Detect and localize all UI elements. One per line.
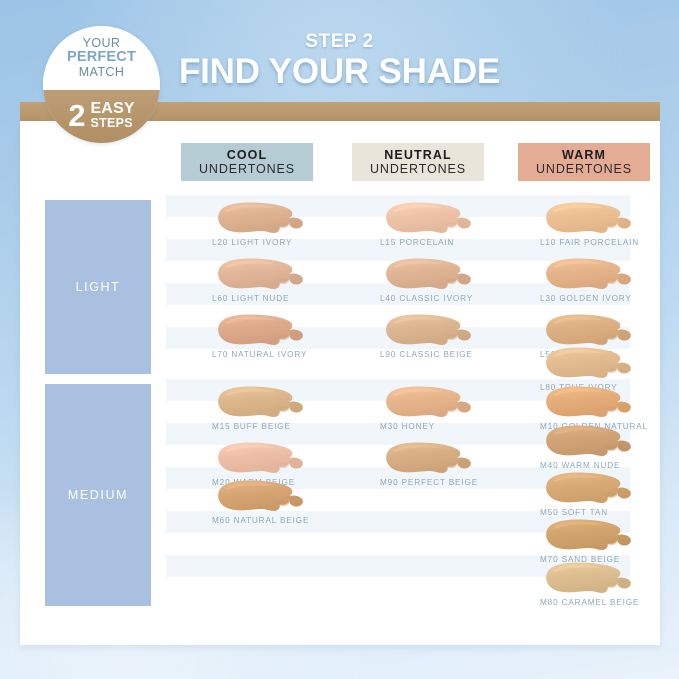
undertone-name-neutral: NEUTRAL [384,148,451,162]
shade-label: L20 LIGHT IVORY [212,238,362,247]
shade-label: L90 CLASSIC BEIGE [380,350,530,359]
undertone-header-cool[interactable]: COOL UNDERTONES [181,143,313,181]
shade-swatch-icon [214,440,310,478]
shade-label: L15 PORCELAIN [380,238,530,247]
shade-label: M40 WARM NUDE [540,461,679,470]
shade-swatch-icon [382,440,478,478]
shade-cell[interactable]: M30 HONEY [378,384,528,442]
shade-label: M90 PERFECT BEIGE [380,478,530,487]
shade-swatch-icon [542,384,638,422]
shade-swatch-icon [542,517,638,555]
shade-cell[interactable]: M80 CARAMEL BEIGE [538,560,679,618]
shade-cell[interactable]: L60 LIGHT NUDE [210,256,360,314]
category-block-medium[interactable]: MEDIUM [45,384,151,606]
shade-label: M30 HONEY [380,422,530,431]
shade-swatch-icon [382,312,478,350]
shade-cell[interactable]: M90 PERFECT BEIGE [378,440,528,498]
shade-label: M60 NATURAL BEIGE [212,516,362,525]
shade-swatch-icon [214,200,310,238]
shade-swatch-icon [542,200,638,238]
undertone-sub-cool: UNDERTONES [199,162,295,176]
badge-word-steps: STEPS [90,117,134,130]
shade-cell[interactable]: M15 BUFF BEIGE [210,384,360,442]
shade-swatch-icon [382,384,478,422]
badge-step-words: EASY STEPS [90,100,134,130]
badge-line-match: MATCH [79,66,125,80]
category-label-medium: MEDIUM [68,488,128,502]
badge-word-easy: EASY [90,101,134,117]
shade-label: L10 FAIR PORCELAIN [540,238,679,247]
undertone-name-cool: COOL [227,148,268,162]
shade-swatch-icon [382,200,478,238]
shade-swatch-icon [382,256,478,294]
shade-label: L70 NATURAL IVORY [212,350,362,359]
shade-cell[interactable]: M60 NATURAL BEIGE [210,478,360,536]
category-label-light: LIGHT [76,280,121,294]
shade-swatch-icon [214,256,310,294]
shade-label: M15 BUFF BEIGE [212,422,362,431]
perfect-match-badge: YOUR PERFECT MATCH 2 EASY STEPS [43,26,160,143]
shade-swatch-icon [542,345,638,383]
shade-label: L30 GOLDEN IVORY [540,294,679,303]
shade-cell[interactable]: L30 GOLDEN IVORY [538,256,679,314]
shade-cell[interactable]: L40 CLASSIC IVORY [378,256,528,314]
shade-label: L60 LIGHT NUDE [212,294,362,303]
shade-cell[interactable]: L70 NATURAL IVORY [210,312,360,370]
badge-step-number: 2 [68,100,85,131]
category-block-light[interactable]: LIGHT [45,200,151,374]
undertone-name-warm: WARM [562,148,606,162]
undertone-sub-neutral: UNDERTONES [370,162,466,176]
badge-line-your: YOUR [83,37,121,51]
undertone-header-neutral[interactable]: NEUTRAL UNDERTONES [352,143,484,181]
undertone-header-warm[interactable]: WARM UNDERTONES [518,143,650,181]
shade-swatch-icon [214,478,310,516]
badge-bottom-section: 2 EASY STEPS [43,90,160,143]
shade-swatch-icon [214,312,310,350]
shade-swatch-icon [542,256,638,294]
shade-cell[interactable]: L15 PORCELAIN [378,200,528,258]
badge-line-perfect: PERFECT [67,50,136,66]
shade-swatch-icon [542,423,638,461]
shade-label: M50 SOFT TAN [540,508,679,517]
shade-cell[interactable]: L10 FAIR PORCELAIN [538,200,679,258]
shade-cell[interactable]: L90 CLASSIC BEIGE [378,312,528,370]
shade-swatch-icon [542,560,638,598]
shade-swatch-icon [542,470,638,508]
undertone-sub-warm: UNDERTONES [536,162,632,176]
shade-swatch-icon [214,384,310,422]
shade-label: L40 CLASSIC IVORY [380,294,530,303]
badge-top-section: YOUR PERFECT MATCH [43,26,160,90]
shade-label: M80 CARAMEL BEIGE [540,598,679,607]
shade-cell[interactable]: L20 LIGHT IVORY [210,200,360,258]
